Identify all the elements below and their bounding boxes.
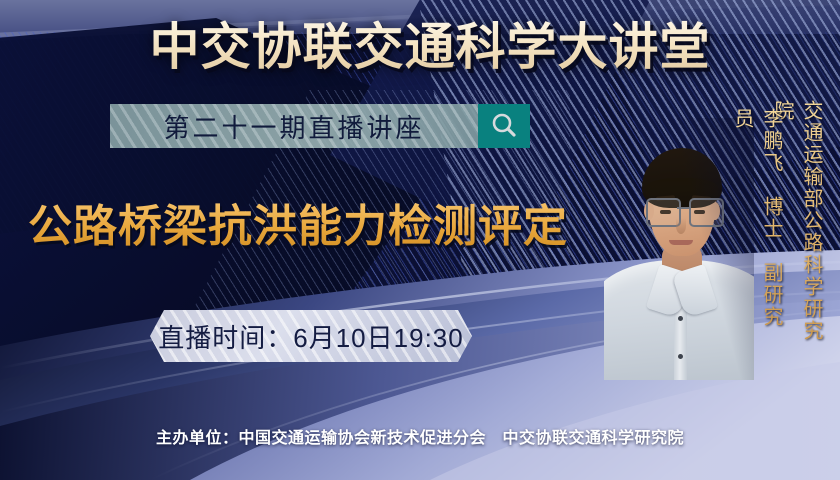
speaker-name-title: 李鹏飞 博士 副研究员 (728, 108, 786, 338)
glasses-lens-right (689, 198, 724, 227)
subtitle-bar-label: 第二十一期直播讲座 (110, 104, 478, 148)
glasses-bridge (677, 207, 689, 209)
lecture-title: 公路桥梁抗洪能力检测评定 (28, 200, 628, 254)
page-title: 中交协联交通科学大讲堂 (140, 18, 720, 76)
subtitle-bar: 第二十一期直播讲座 (110, 104, 530, 148)
portrait-mouth (669, 240, 693, 245)
portrait-shirt-button (678, 354, 683, 359)
live-time-text: 直播时间：6月10日19:30 (150, 310, 472, 362)
search-icon (489, 111, 519, 141)
footer-organizers: 主办单位：中国交通运输协会新技术促进分会 中交协联交通科学研究院 (0, 424, 840, 448)
poster-canvas: 中交协联交通科学大讲堂 第二十一期直播讲座 公路桥梁抗洪能力检测评定 直播时间：… (0, 0, 840, 480)
search-button[interactable] (478, 104, 530, 148)
portrait-shirt-button (678, 316, 683, 321)
portrait-nose (676, 218, 686, 234)
